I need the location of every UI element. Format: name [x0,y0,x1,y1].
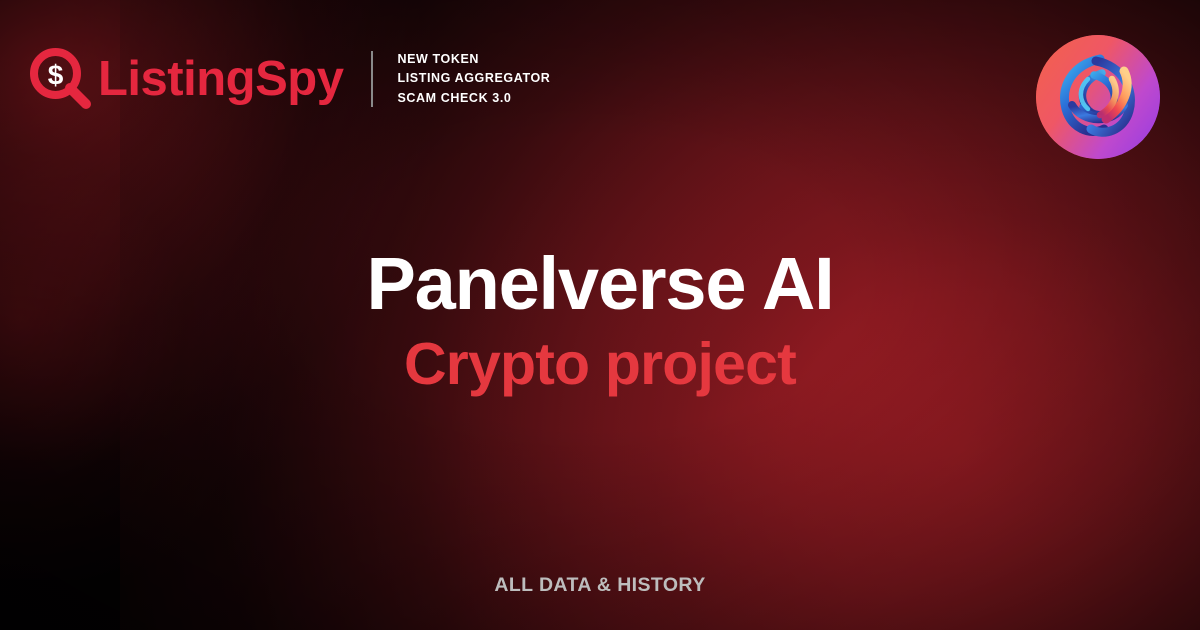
svg-text:$: $ [48,60,64,91]
brand-wordmark: ListingSpy [98,55,343,104]
project-subtitle: Crypto project [0,335,1200,394]
project-title: Panelverse AI [0,247,1200,321]
header-divider [371,51,373,107]
tagline-line-1: NEW TOKEN [397,50,550,69]
magnifier-dollar-icon: $ [30,48,92,110]
tagline-line-3: SCAM CHECK 3.0 [397,89,550,108]
project-logo-badge[interactable] [1036,35,1160,159]
tagline-line-2: LISTING AGGREGATOR [397,69,550,88]
brand-tagline: NEW TOKEN LISTING AGGREGATOR SCAM CHECK … [397,50,550,108]
project-heading-block: Panelverse AI Crypto project [0,247,1200,394]
listingspy-share-card: $ ListingSpy NEW TOKEN LISTING AGGREGATO… [0,0,1200,630]
panelverse-swirl-logo-icon [1036,35,1160,159]
footer-caption: ALL DATA & HISTORY [0,574,1200,597]
brand-header[interactable]: $ ListingSpy NEW TOKEN LISTING AGGREGATO… [30,48,550,110]
